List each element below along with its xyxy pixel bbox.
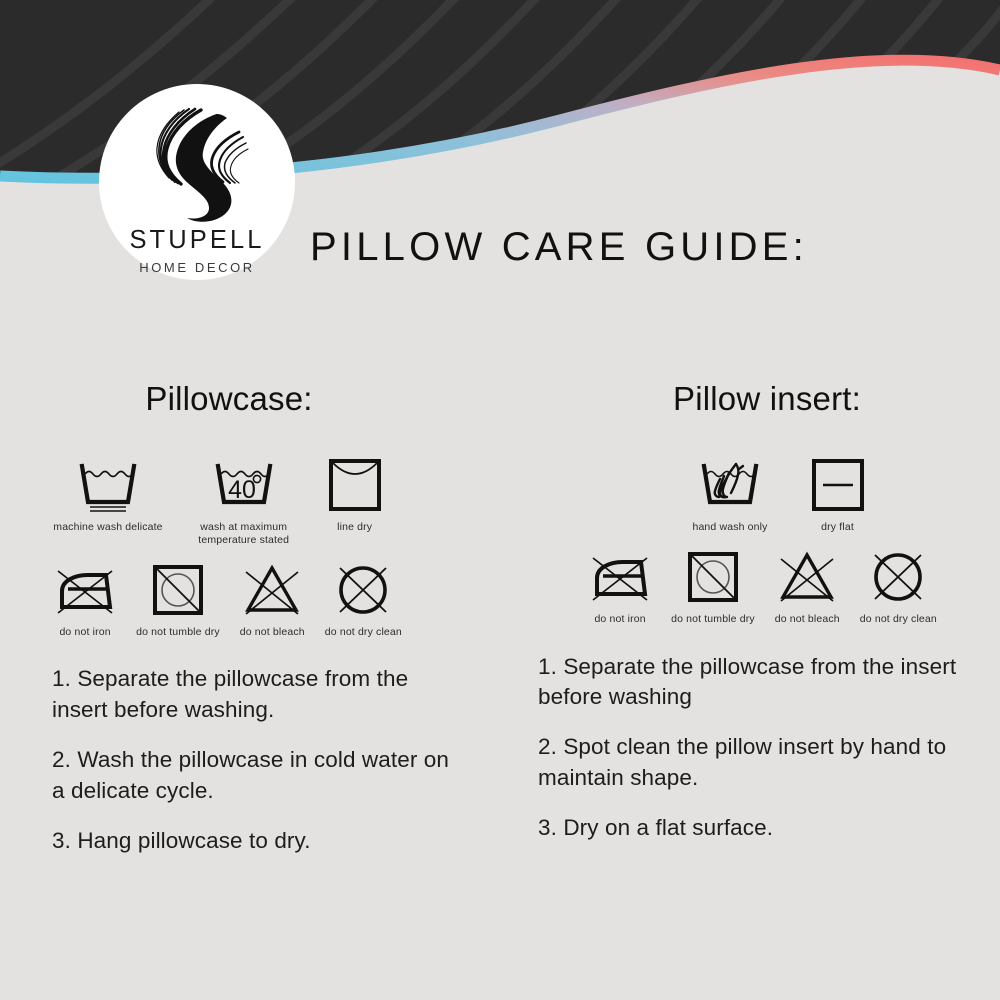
instruction-item: 3. Hang pillowcase to dry.: [52, 826, 466, 857]
symbol-row: machine wash delicate 40 wash at maximum…: [0, 454, 500, 547]
do-not-tumble-dry-icon: [149, 559, 207, 621]
do-not-iron-icon: [54, 559, 116, 621]
care-symbol-caption: wash at maximum temperature stated: [189, 521, 299, 547]
care-symbol-do-not-bleach: do not bleach: [240, 559, 305, 639]
instruction-item: 2. Wash the pillowcase in cold water on …: [52, 745, 466, 807]
column-heading-pillowcase: Pillowcase:: [0, 380, 500, 436]
care-symbol-caption: do not tumble dry: [671, 613, 755, 626]
line-dry-icon: [325, 454, 385, 516]
brand-tagline: HOME DECOR: [139, 261, 255, 274]
do-not-iron-icon: [589, 546, 651, 608]
care-symbol-caption: do not iron: [59, 626, 110, 639]
care-symbol-wash-40-degrees: 40 wash at maximum temperature stated: [189, 454, 299, 547]
do-not-dry-clean-icon: [869, 546, 927, 608]
machine-wash-delicate-icon: [76, 454, 140, 516]
care-symbol-caption: do not dry clean: [325, 626, 402, 639]
care-symbol-do-not-dry-clean: do not dry clean: [325, 559, 402, 639]
brand-name: STUPELL: [129, 228, 264, 254]
care-symbol-machine-wash-delicate: machine wash delicate: [53, 454, 162, 534]
do-not-dry-clean-icon: [334, 559, 392, 621]
column-heading-pillow-insert: Pillow insert:: [500, 380, 1000, 436]
instructions-pillowcase: 1. Separate the pillowcase from the inse…: [0, 664, 500, 856]
care-column-pillow-insert: Pillow insert:: [500, 380, 1000, 875]
care-symbol-caption: do not iron: [594, 613, 645, 626]
care-symbol-do-not-tumble-dry: do not tumble dry: [671, 546, 755, 626]
do-not-bleach-icon: [242, 559, 302, 621]
do-not-bleach-icon: [777, 546, 837, 608]
stupell-swoosh-logo-icon: [139, 106, 255, 224]
instruction-item: 3. Dry on a flat surface.: [538, 813, 962, 844]
care-symbol-hand-wash-only: hand wash only: [692, 454, 767, 534]
hand-wash-only-icon: [698, 454, 762, 516]
care-symbol-line-dry: line dry: [325, 454, 385, 534]
instruction-item: 2. Spot clean the pillow insert by hand …: [538, 732, 962, 794]
symbol-row: hand wash only dry flat: [500, 454, 1000, 534]
care-symbol-caption: machine wash delicate: [53, 521, 162, 534]
instruction-item: 1. Separate the pillowcase from the inse…: [52, 664, 466, 726]
care-symbol-caption: line dry: [337, 521, 372, 534]
dry-flat-icon: [808, 454, 868, 516]
svg-text:40: 40: [228, 476, 256, 504]
care-symbol-caption: do not tumble dry: [136, 626, 220, 639]
care-symbol-do-not-iron: do not iron: [589, 546, 651, 626]
care-symbol-do-not-iron: do not iron: [54, 559, 116, 639]
care-symbol-do-not-tumble-dry: do not tumble dry: [136, 559, 220, 639]
symbol-grid-pillow-insert: hand wash only dry flat: [500, 454, 1000, 626]
symbol-grid-pillowcase: machine wash delicate 40 wash at maximum…: [0, 454, 500, 638]
do-not-tumble-dry-icon: [684, 546, 742, 608]
care-symbol-caption: do not bleach: [240, 626, 305, 639]
care-symbol-dry-flat: dry flat: [808, 454, 868, 534]
care-columns: Pillowcase: machine wash delicate: [0, 380, 1000, 875]
symbol-row: do not iron do not tumble dry: [0, 559, 500, 639]
care-symbol-do-not-dry-clean: do not dry clean: [860, 546, 937, 626]
care-column-pillowcase: Pillowcase: machine wash delicate: [0, 380, 500, 875]
care-symbol-caption: dry flat: [821, 521, 854, 534]
wash-40-degrees-icon: 40: [212, 454, 276, 516]
care-symbol-caption: do not dry clean: [860, 613, 937, 626]
instructions-pillow-insert: 1. Separate the pillowcase from the inse…: [500, 652, 1000, 844]
symbol-row: do not iron do not tumble dry: [500, 546, 1000, 626]
instruction-item: 1. Separate the pillowcase from the inse…: [538, 652, 962, 714]
care-symbol-caption: hand wash only: [692, 521, 767, 534]
care-symbol-do-not-bleach: do not bleach: [775, 546, 840, 626]
brand-logo-badge: STUPELL HOME DECOR: [99, 84, 295, 280]
care-symbol-caption: do not bleach: [775, 613, 840, 626]
